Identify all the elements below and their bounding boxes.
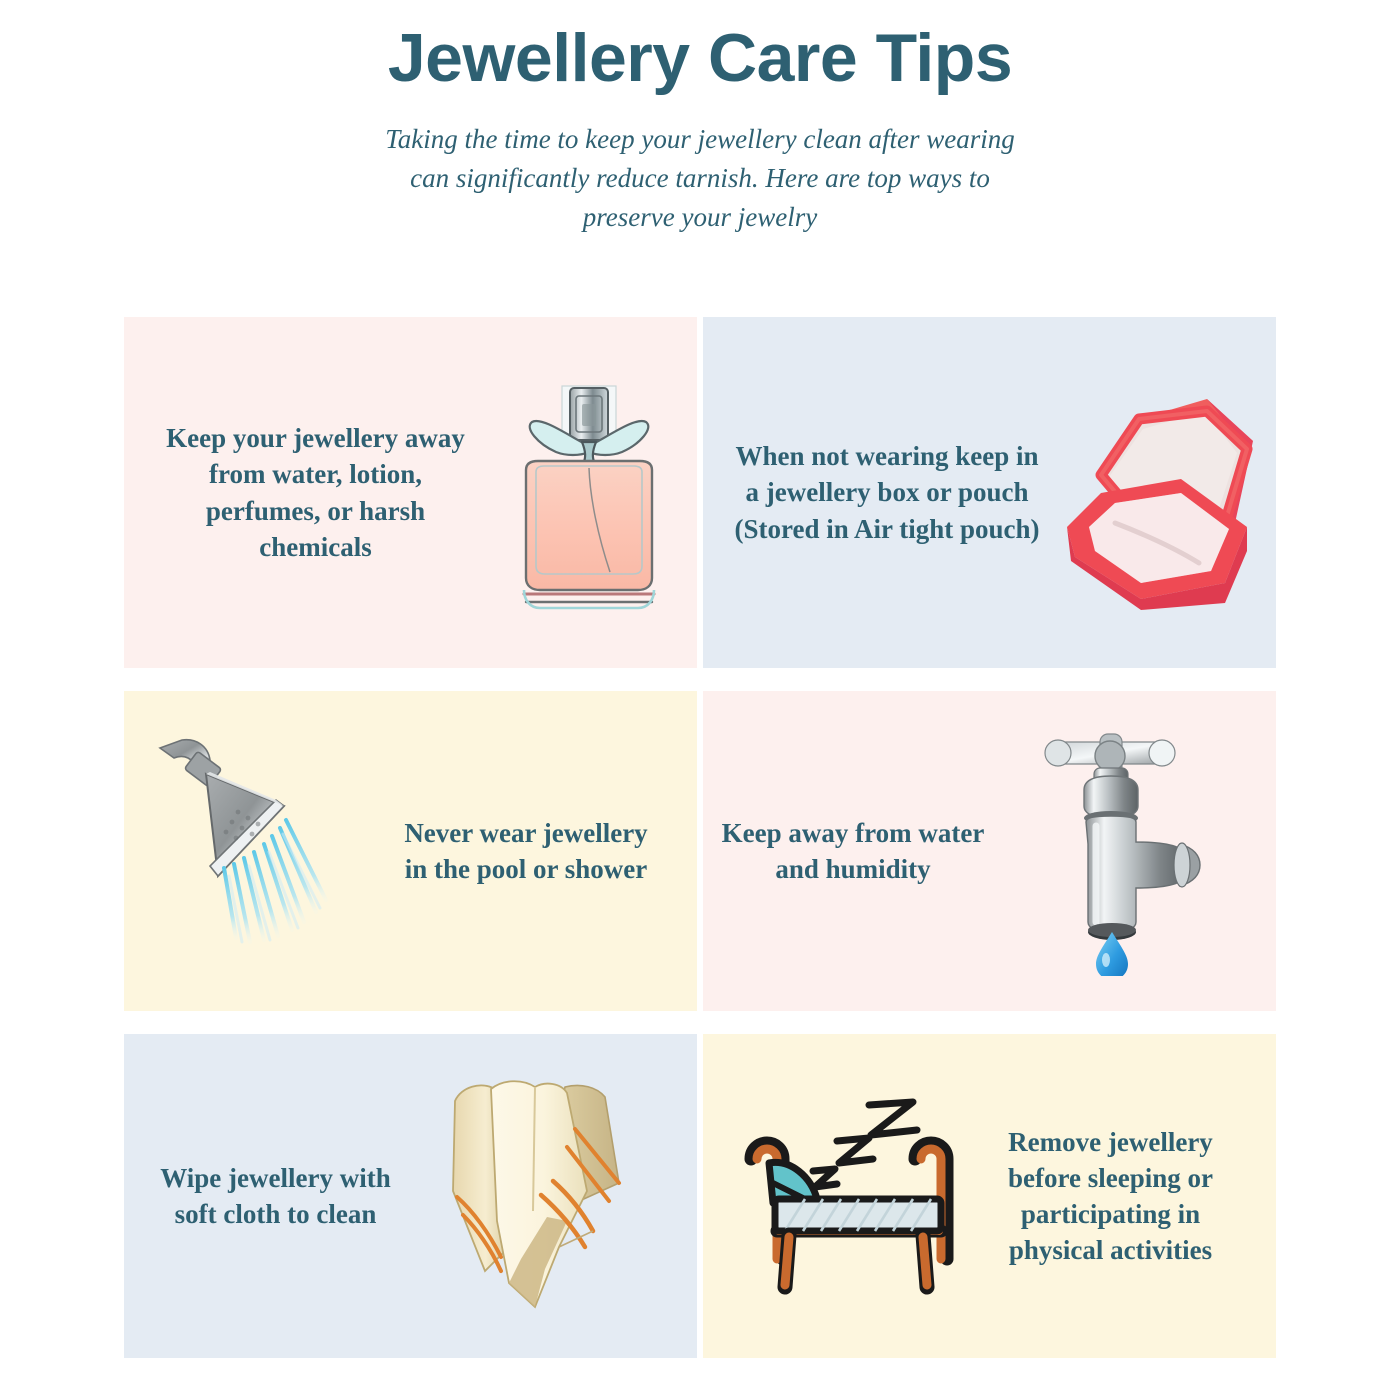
page-subtitle: Taking the time to keep your jewellery c… — [380, 120, 1020, 237]
tip-card-bed-text: Remove jewellery before sleeping or part… — [963, 1124, 1258, 1269]
tip-card-perfume: Keep your jewellery away from water, lot… — [124, 317, 697, 668]
polishing-cloth-icon — [437, 1071, 657, 1321]
tip-card-faucet: Keep away from water and humidity — [703, 691, 1276, 1011]
bed-sleep-icon — [733, 1091, 963, 1301]
tip-card-shower: Never wear jewellery in the pool or show… — [124, 691, 697, 1011]
tip-card-perfume-text: Keep your jewellery away from water, lot… — [142, 420, 489, 565]
tips-grid: Keep your jewellery away from water, lot… — [124, 317, 1276, 1358]
header: Jewellery Care Tips Taking the time to k… — [0, 0, 1400, 238]
tip-card-jewellery-box-text: When not wearing keep in a jewellery box… — [717, 438, 1057, 547]
tip-card-bed: Remove jewellery before sleeping or part… — [703, 1034, 1276, 1358]
faucet-drip-icon — [1007, 726, 1237, 976]
tip-card-shower-text: Never wear jewellery in the pool or show… — [377, 815, 675, 887]
infographic-page: Jewellery Care Tips Taking the time to k… — [0, 0, 1400, 1400]
perfume-bottle-icon — [489, 368, 689, 618]
tip-card-faucet-text: Keep away from water and humidity — [703, 815, 1003, 887]
shower-head-icon — [152, 726, 377, 976]
tip-card-cloth: Wipe jewellery with soft cloth to clean — [124, 1034, 697, 1358]
tip-card-cloth-text: Wipe jewellery with soft cloth to clean — [124, 1160, 427, 1232]
jewellery-box-icon — [1057, 375, 1272, 610]
tip-card-jewellery-box: When not wearing keep in a jewellery box… — [703, 317, 1276, 668]
page-title: Jewellery Care Tips — [0, 22, 1400, 94]
